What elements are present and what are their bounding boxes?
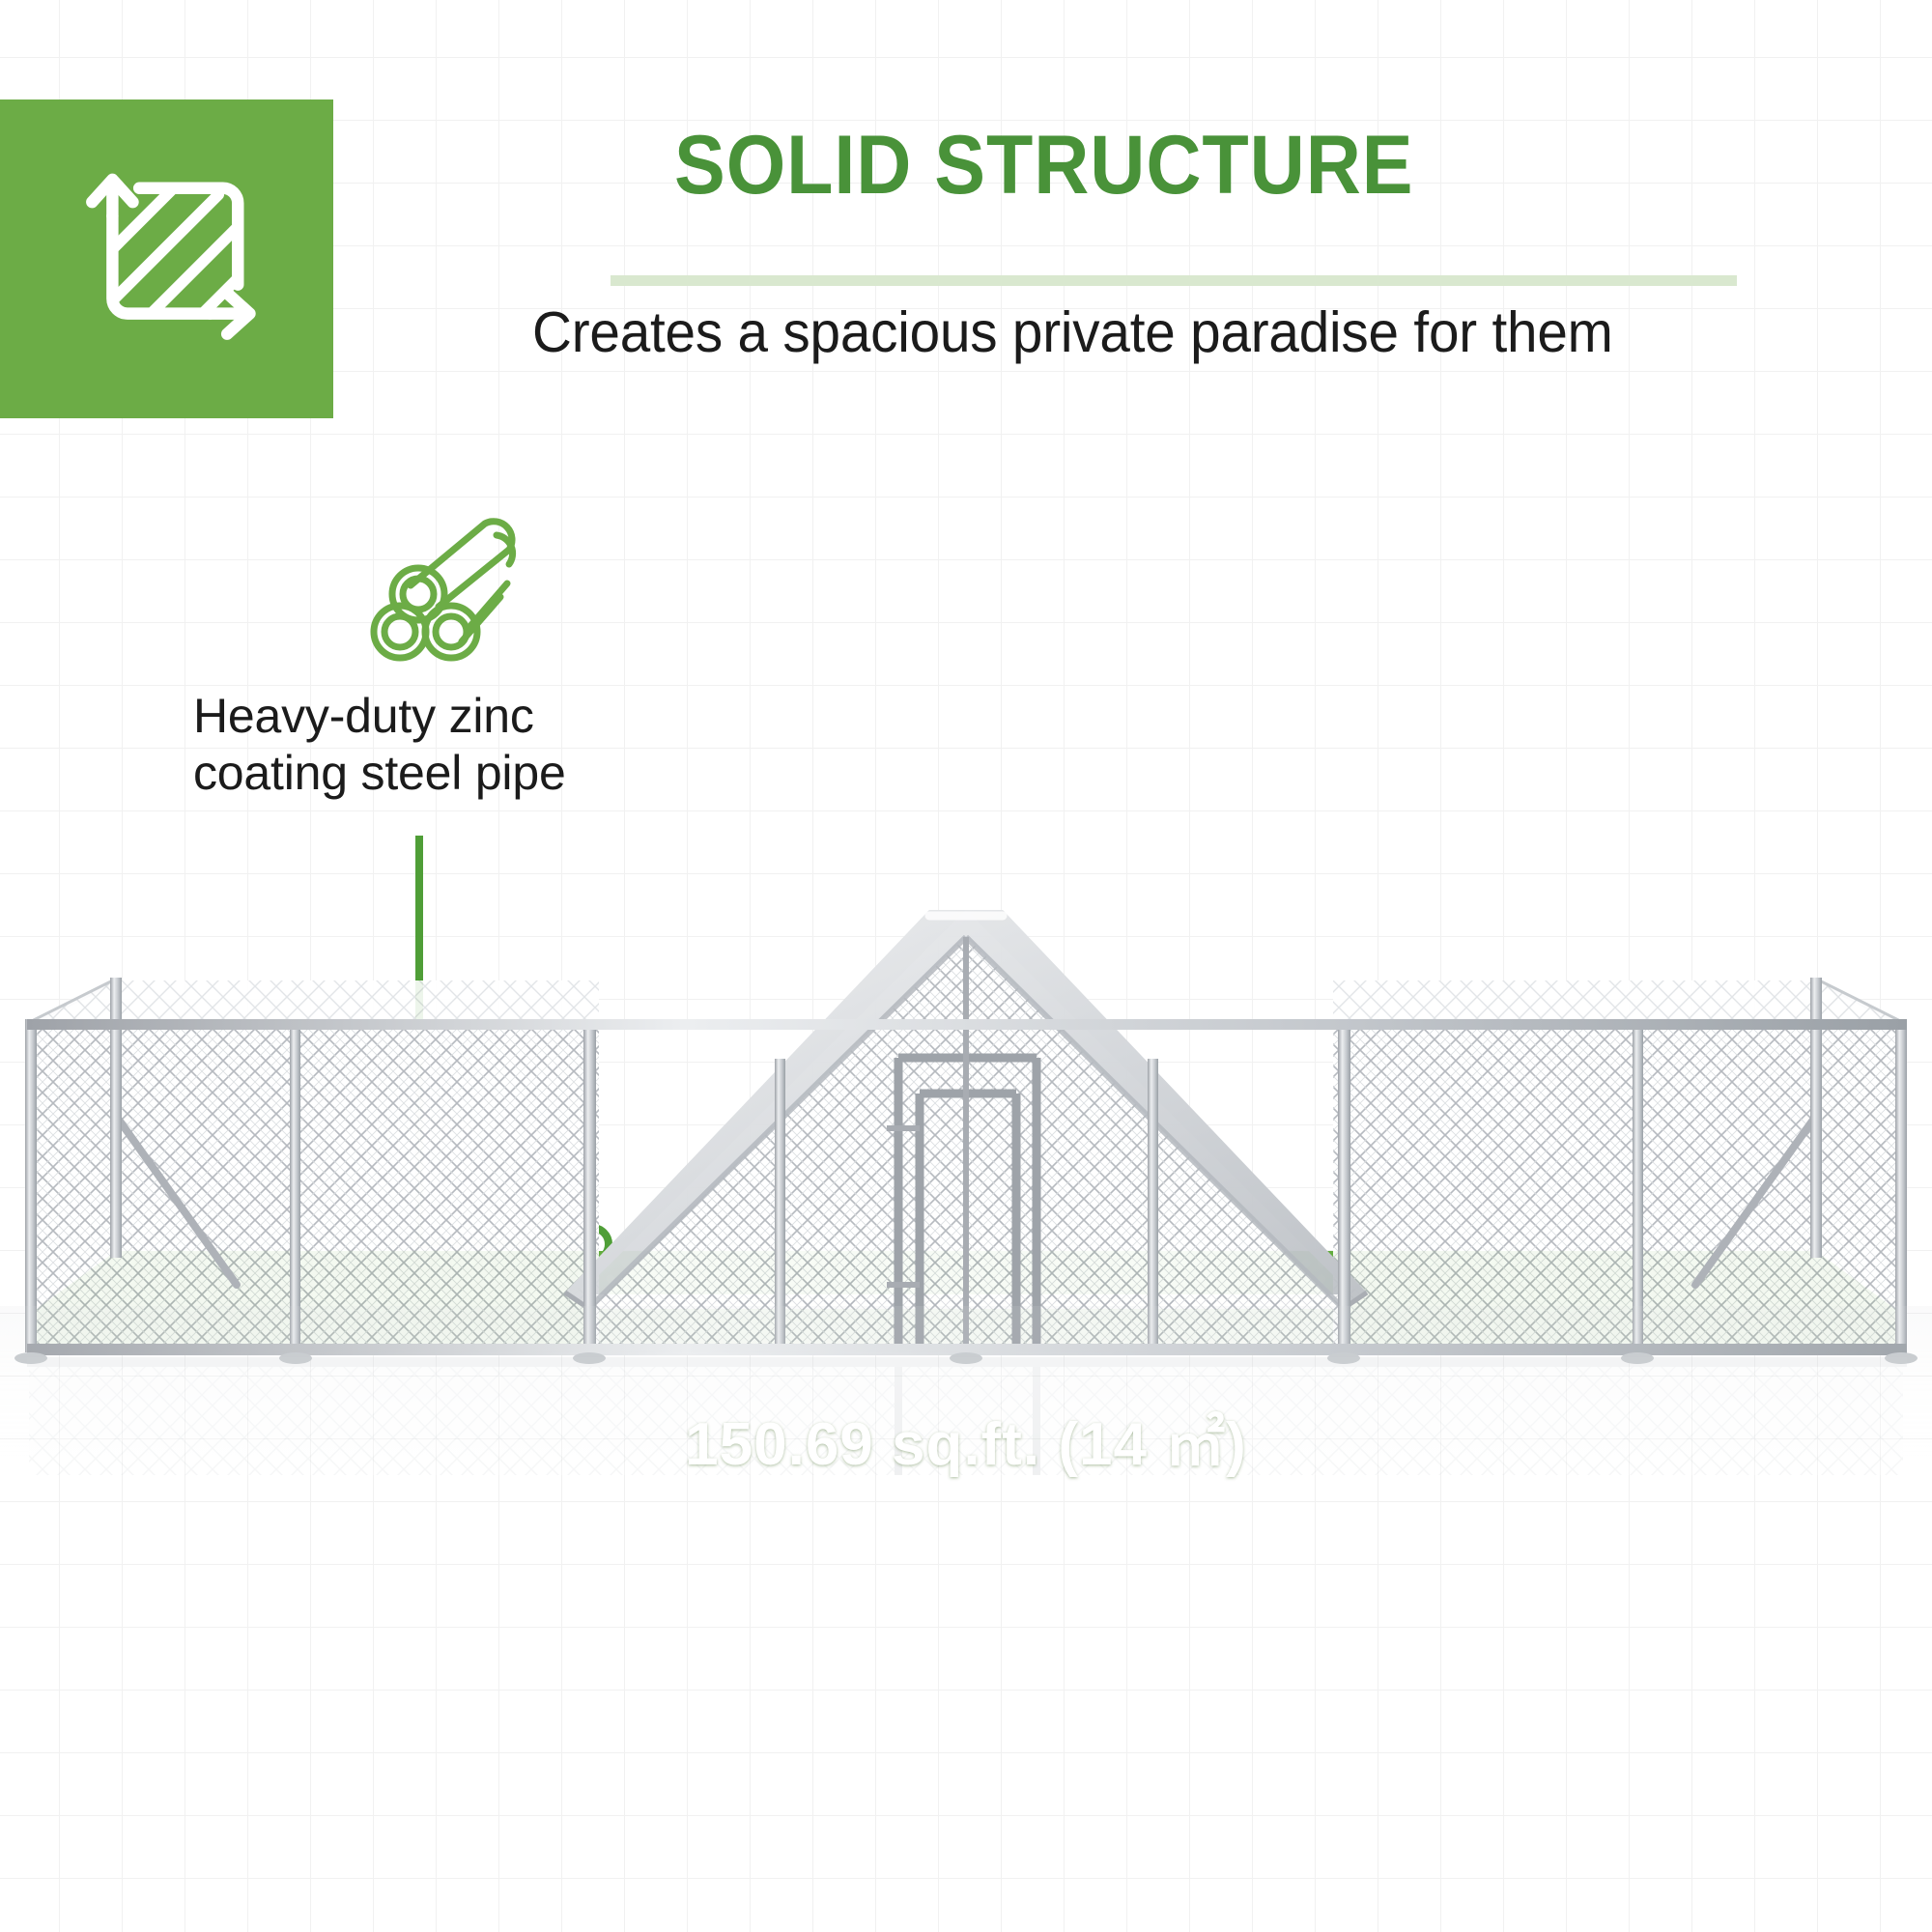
callout-label: Heavy-duty zinc coating steel pipe bbox=[193, 688, 696, 802]
callout-label-line1: Heavy-duty zinc bbox=[193, 688, 696, 745]
area-expand-icon bbox=[60, 152, 274, 366]
feature-badge bbox=[0, 99, 333, 418]
steel-pipes-icon bbox=[369, 518, 533, 663]
page-subtitle: Creates a spacious private paradise for … bbox=[532, 304, 1613, 361]
product-illustration bbox=[0, 869, 1932, 1642]
floor-area-caption: 150.69 sq.ft. (14 ㎡) bbox=[0, 1415, 1932, 1475]
callout-label-line2: coating steel pipe bbox=[193, 745, 696, 802]
title-divider bbox=[611, 275, 1737, 286]
page-title: SOLID STRUCTURE bbox=[674, 124, 1413, 207]
